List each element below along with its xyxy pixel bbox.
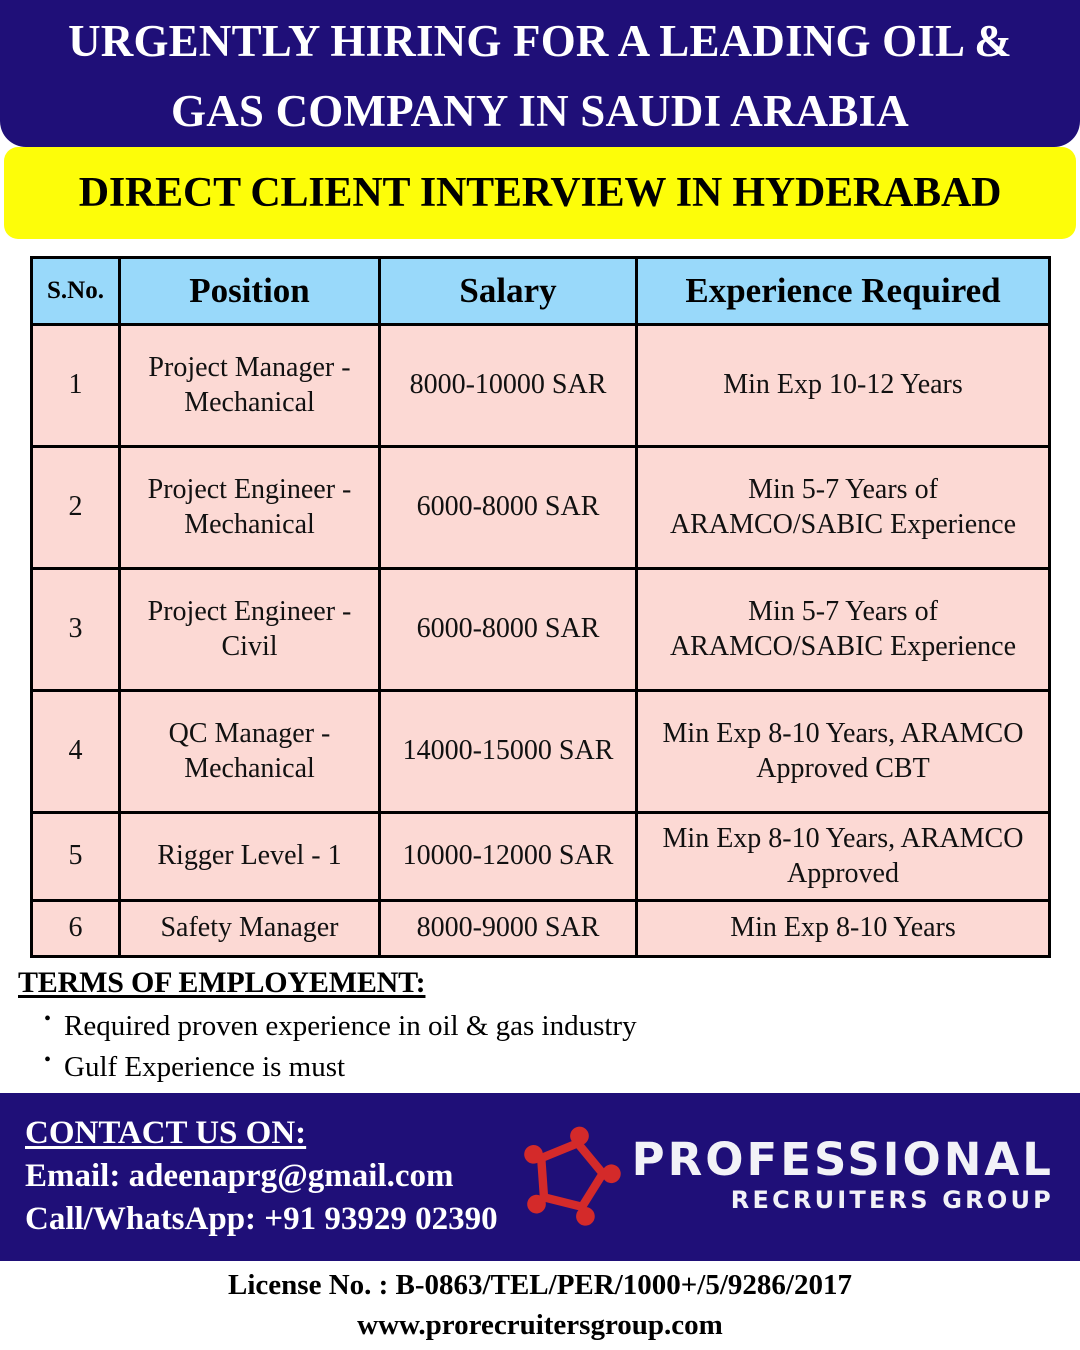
- jobs-table-container: S.No. Position Salary Experience Require…: [0, 239, 1080, 958]
- interview-location-banner: DIRECT CLIENT INTERVIEW IN HYDERABAD: [4, 147, 1076, 239]
- cell-salary: 10000-12000 SAR: [380, 813, 637, 901]
- table-row: 5 Rigger Level - 1 10000-12000 SAR Min E…: [32, 813, 1050, 901]
- list-item: Gulf Experience is must: [44, 1047, 1080, 1088]
- table-row: 1 Project Manager - Mechanical 8000-1000…: [32, 325, 1050, 447]
- cell-salary: 6000-8000 SAR: [380, 447, 637, 569]
- table-row: 3 Project Engineer - Civil 6000-8000 SAR…: [32, 569, 1050, 691]
- cell-sno: 3: [32, 569, 120, 691]
- column-header-experience: Experience Required: [637, 258, 1050, 325]
- cell-salary: 6000-8000 SAR: [380, 569, 637, 691]
- brand-name: PROFESSIONAL: [632, 1137, 1054, 1182]
- header-banner: URGENTLY HIRING FOR A LEADING OIL & GAS …: [0, 0, 1080, 147]
- cell-salary: 14000-15000 SAR: [380, 691, 637, 813]
- cell-sno: 5: [32, 813, 120, 901]
- column-header-salary: Salary: [380, 258, 637, 325]
- cell-sno: 1: [32, 325, 120, 447]
- pentagon-logo-icon: [514, 1118, 626, 1230]
- contact-details: CONTACT US ON: Email: adeenaprg@gmail.co…: [0, 1113, 498, 1240]
- table-row: 6 Safety Manager 8000-9000 SAR Min Exp 8…: [32, 901, 1050, 957]
- contact-heading: CONTACT US ON:: [25, 1113, 498, 1154]
- interview-location-text: DIRECT CLIENT INTERVIEW IN HYDERABAD: [79, 169, 1002, 217]
- cell-sno: 2: [32, 447, 120, 569]
- table-header-row: S.No. Position Salary Experience Require…: [32, 258, 1050, 325]
- cell-salary: 8000-9000 SAR: [380, 901, 637, 957]
- table-row: 4 QC Manager - Mechanical 14000-15000 SA…: [32, 691, 1050, 813]
- cell-position: Project Engineer - Mechanical: [120, 447, 380, 569]
- cell-experience: Min Exp 8-10 Years, ARAMCO Approved CBT: [637, 691, 1050, 813]
- page-title-line-1: URGENTLY HIRING FOR A LEADING OIL &: [68, 6, 1012, 76]
- company-logo: PROFESSIONAL RECRUITERS GROUP: [498, 1118, 1080, 1230]
- brand-wordmark: PROFESSIONAL RECRUITERS GROUP: [632, 1137, 1054, 1212]
- column-header-position: Position: [120, 258, 380, 325]
- terms-list: Required proven experience in oil & gas …: [18, 1006, 1080, 1087]
- brand-subtitle: RECRUITERS GROUP: [731, 1188, 1054, 1212]
- cell-position: Project Manager - Mechanical: [120, 325, 380, 447]
- page-title-line-2: GAS COMPANY IN SAUDI ARABIA: [171, 76, 909, 146]
- cell-experience: Min Exp 8-10 Years: [637, 901, 1050, 957]
- contact-banner: CONTACT US ON: Email: adeenaprg@gmail.co…: [0, 1093, 1080, 1261]
- cell-experience: Min Exp 10-12 Years: [637, 325, 1050, 447]
- contact-phone[interactable]: Call/WhatsApp: +91 93929 02390: [25, 1198, 498, 1241]
- cell-experience: Min 5-7 Years of ARAMCO/SABIC Experience: [637, 447, 1050, 569]
- cell-sno: 4: [32, 691, 120, 813]
- website-url[interactable]: www.prorecruitersgroup.com: [0, 1305, 1080, 1345]
- cell-position: Project Engineer - Civil: [120, 569, 380, 691]
- cell-position: QC Manager - Mechanical: [120, 691, 380, 813]
- cell-position: Safety Manager: [120, 901, 380, 957]
- jobs-table: S.No. Position Salary Experience Require…: [30, 256, 1051, 958]
- cell-experience: Min Exp 8-10 Years, ARAMCO Approved: [637, 813, 1050, 901]
- cell-sno: 6: [32, 901, 120, 957]
- table-row: 2 Project Engineer - Mechanical 6000-800…: [32, 447, 1050, 569]
- footer-license-block: License No. : B-0863/TEL/PER/1000+/5/928…: [0, 1265, 1080, 1345]
- cell-salary: 8000-10000 SAR: [380, 325, 637, 447]
- license-number: License No. : B-0863/TEL/PER/1000+/5/928…: [0, 1265, 1080, 1305]
- cell-position: Rigger Level - 1: [120, 813, 380, 901]
- list-item: Required proven experience in oil & gas …: [44, 1006, 1080, 1047]
- contact-email[interactable]: Email: adeenaprg@gmail.com: [25, 1155, 498, 1198]
- column-header-sno: S.No.: [32, 258, 120, 325]
- cell-experience: Min 5-7 Years of ARAMCO/SABIC Experience: [637, 569, 1050, 691]
- terms-section: TERMS OF EMPLOYEMENT: Required proven ex…: [0, 958, 1080, 1087]
- terms-title: TERMS OF EMPLOYEMENT:: [18, 966, 1080, 1000]
